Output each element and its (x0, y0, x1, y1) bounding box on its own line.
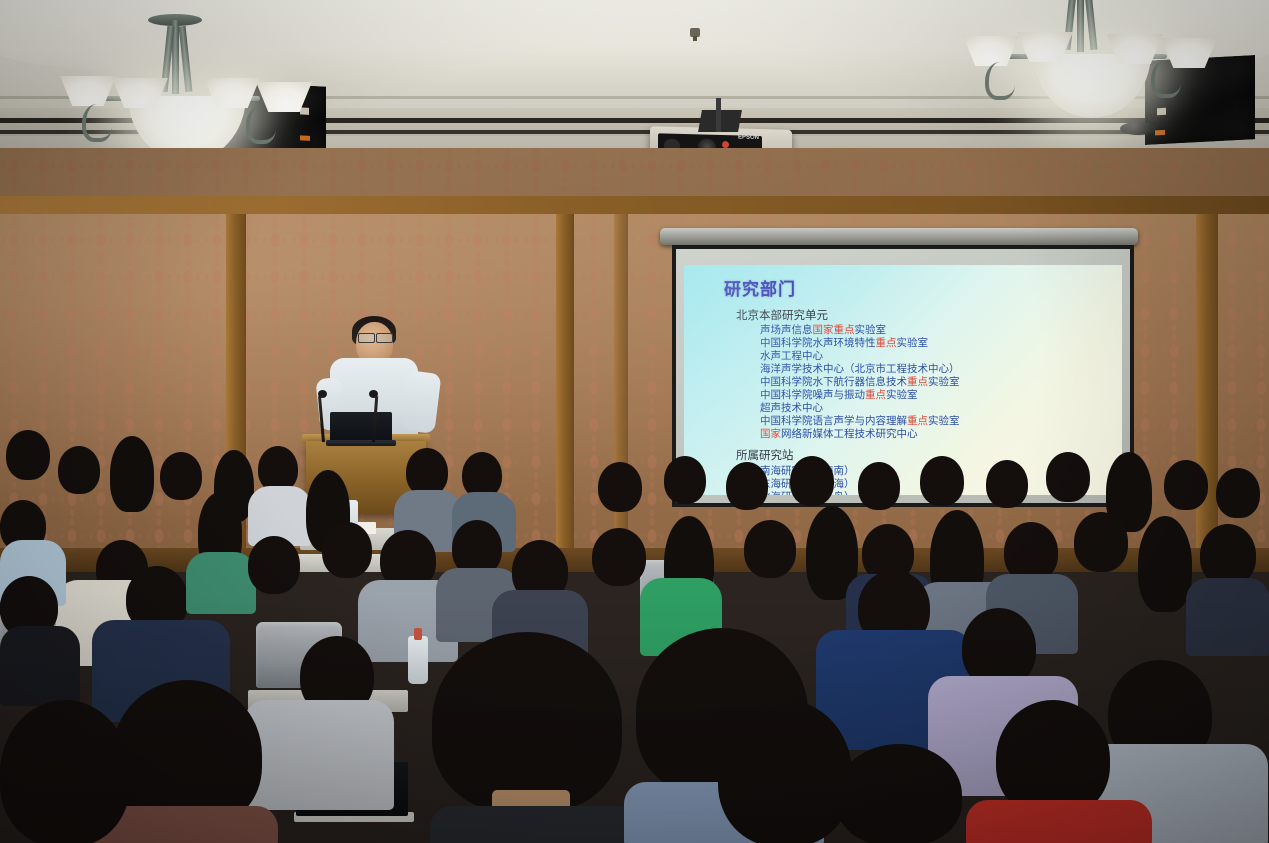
audience-head (160, 452, 202, 500)
wood-post-center (556, 214, 574, 568)
audience-head (744, 520, 796, 578)
audience-torso-check-near (244, 700, 394, 810)
speaker-cone-right (1120, 122, 1156, 135)
microphone-head-right (369, 390, 378, 398)
speaker-label-left (300, 107, 309, 114)
projector-mount-pole (716, 98, 721, 132)
audience-head (790, 456, 834, 506)
wood-beam-top (0, 196, 1269, 214)
presenter-laptop-screen (330, 412, 392, 442)
audience-head (6, 430, 50, 480)
audience-torso-red (966, 800, 1152, 843)
audience-torso-foreground (430, 806, 642, 843)
water-bottle-near (408, 636, 428, 684)
audience-torso (186, 552, 256, 614)
audience-head (58, 446, 100, 494)
presenter-glasses (358, 333, 375, 343)
wood-post-center-2 (614, 214, 628, 568)
audience-head (406, 448, 448, 496)
slide-section-heading-2: 所属研究站 (736, 447, 794, 463)
lecture-hall-photo: EPSON 研究部门 北京本部研究单元 声场声信息国家重点实验室 中国科学院水声… (0, 0, 1269, 843)
audience-torso (0, 626, 80, 706)
bottle-cap (414, 628, 422, 640)
screen-roller-casing (660, 228, 1138, 245)
audience-head (592, 528, 646, 586)
speaker-sticker-left (300, 135, 310, 141)
audience-head (1074, 512, 1128, 572)
audience-head (1004, 522, 1058, 582)
audience-torso (1186, 578, 1269, 656)
presenter-laptop-base (326, 440, 396, 446)
audience-head (1200, 524, 1256, 586)
audience-head (1138, 516, 1192, 612)
audience-head (858, 462, 900, 510)
projector-brand-label: EPSON (738, 134, 759, 141)
slide-section-heading-1: 北京本部研究单元 (736, 307, 828, 323)
presenter-arm-right (400, 370, 441, 434)
audience-head (110, 436, 154, 512)
audience-head (836, 744, 962, 843)
audience-head (1216, 468, 1260, 518)
sprinkler-head (690, 28, 700, 37)
speaker-label-right (1157, 108, 1166, 115)
audience-head (920, 456, 964, 506)
audience-head (322, 522, 372, 578)
audience-head (598, 462, 642, 512)
audience-head (1164, 460, 1208, 510)
audience-head (664, 456, 706, 504)
audience-head (1046, 452, 1090, 502)
slide-title: 研究部门 (724, 275, 796, 300)
presenter-glasses-right (376, 333, 393, 343)
audience-head (718, 700, 852, 843)
audience-head-foreground (432, 632, 622, 812)
microphone-head-left (318, 390, 327, 398)
wood-post-right (1196, 214, 1218, 568)
slide-item-9: 国家网络新媒体工程技术研究中心 (760, 426, 918, 441)
audience-head (726, 462, 768, 510)
speaker-sticker-right (1155, 130, 1165, 136)
audience-head (248, 536, 300, 594)
audience-head (0, 700, 130, 843)
audience-head (986, 460, 1028, 508)
